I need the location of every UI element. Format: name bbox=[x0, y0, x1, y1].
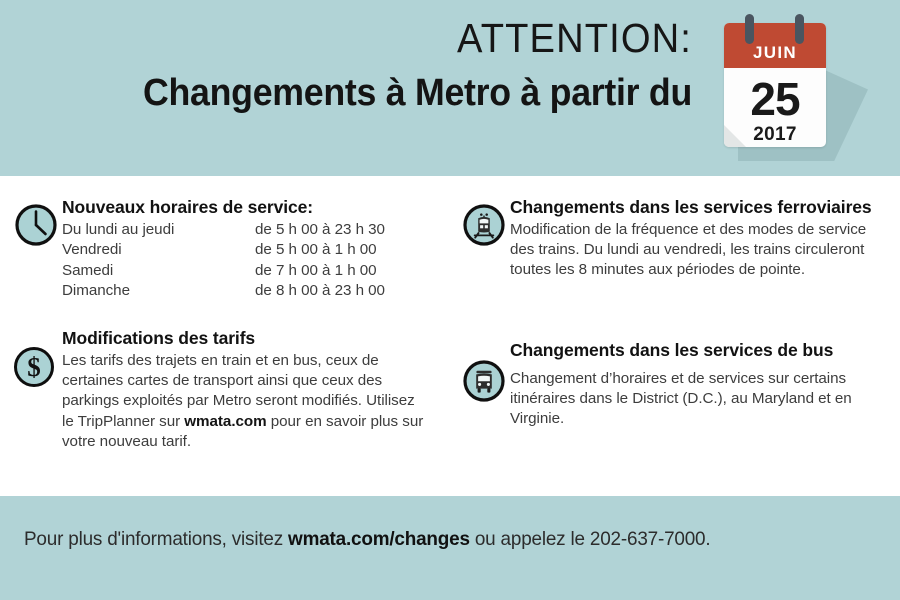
calendar-day: 25 bbox=[724, 76, 826, 122]
footer-message: Pour plus d'informations, visitez wmata.… bbox=[24, 528, 710, 551]
schedule-time: de 5 h 00 à 1 h 00 bbox=[255, 240, 438, 260]
dollar-glyph: $ bbox=[17, 350, 51, 384]
section-rail-changes: Changements dans les services ferroviair… bbox=[462, 198, 886, 281]
right-column: Changements dans les services ferroviair… bbox=[452, 176, 900, 496]
footer-link[interactable]: wmata.com/changes bbox=[288, 528, 470, 550]
section-fare-changes: $ Modifications des tarifs Les tarifs de… bbox=[14, 329, 424, 452]
rail-changes-text: Modification de la fréquence et des mode… bbox=[510, 220, 886, 281]
service-hours-body: Nouveaux horaires de service: Du lundi a… bbox=[62, 198, 438, 302]
section-service-hours: Nouveaux horaires de service: Du lundi a… bbox=[14, 198, 438, 302]
schedule-time: de 7 h 00 à 1 h 00 bbox=[255, 261, 438, 281]
header-banner: ATTENTION: Changements à Metro à partir … bbox=[0, 0, 900, 176]
table-row: Samedi de 7 h 00 à 1 h 00 bbox=[62, 261, 438, 281]
rail-changes-body: Changements dans les services ferroviair… bbox=[510, 198, 886, 281]
schedule-day: Du lundi au jeudi bbox=[62, 220, 255, 240]
bus-changes-text: Changement d’horaires et de services sur… bbox=[510, 369, 886, 430]
schedule-day: Dimanche bbox=[62, 281, 255, 301]
main-content-panel: Nouveaux horaires de service: Du lundi a… bbox=[0, 176, 900, 496]
page-title: Changements à Metro à partir du bbox=[90, 73, 692, 113]
left-column: Nouveaux horaires de service: Du lundi a… bbox=[0, 176, 452, 496]
dollar-icon: $ bbox=[14, 329, 62, 452]
calendar-icon: JUIN 25 2017 bbox=[724, 23, 826, 147]
schedule-day: Samedi bbox=[62, 261, 255, 281]
header-text-group: ATTENTION: Changements à Metro à partir … bbox=[52, 18, 692, 113]
schedule-time: de 5 h 00 à 23 h 30 bbox=[255, 220, 438, 240]
bus-changes-title: Changements dans les services de bus bbox=[510, 341, 886, 361]
calendar-month: JUIN bbox=[753, 43, 797, 63]
fare-changes-text: Les tarifs des trajets en train et en bu… bbox=[62, 351, 424, 452]
rail-changes-title: Changements dans les services ferroviair… bbox=[510, 198, 886, 218]
bus-icon bbox=[462, 341, 510, 430]
calendar-ring-left bbox=[745, 14, 754, 44]
wmata-link[interactable]: wmata.com bbox=[184, 413, 266, 430]
calendar-month-band: JUIN bbox=[724, 23, 826, 68]
schedule-day: Vendredi bbox=[62, 240, 255, 260]
train-icon bbox=[462, 198, 510, 281]
infographic-poster: ATTENTION: Changements à Metro à partir … bbox=[0, 0, 900, 600]
footer-banner: Pour plus d'informations, visitez wmata.… bbox=[0, 496, 900, 600]
service-hours-title: Nouveaux horaires de service: bbox=[62, 198, 438, 218]
table-row: Vendredi de 5 h 00 à 1 h 00 bbox=[62, 240, 438, 260]
schedule-time: de 8 h 00 à 23 h 00 bbox=[255, 281, 438, 301]
attention-label: ATTENTION: bbox=[97, 18, 692, 59]
fare-changes-body: Modifications des tarifs Les tarifs des … bbox=[62, 329, 424, 452]
footer-text-after: ou appelez le 202-637-7000. bbox=[470, 528, 711, 550]
table-row: Du lundi au jeudi de 5 h 00 à 23 h 30 bbox=[62, 220, 438, 240]
service-hours-table: Du lundi au jeudi de 5 h 00 à 23 h 30 Ve… bbox=[62, 220, 438, 302]
dollar-icon-circle: $ bbox=[14, 347, 54, 387]
clock-icon bbox=[14, 198, 62, 302]
section-bus-changes: Changements dans les services de bus Cha… bbox=[462, 341, 886, 430]
footer-text-before: Pour plus d'informations, visitez bbox=[24, 528, 288, 550]
table-row: Dimanche de 8 h 00 à 23 h 00 bbox=[62, 281, 438, 301]
calendar-ring-right bbox=[795, 14, 804, 44]
bus-changes-body: Changements dans les services de bus Cha… bbox=[510, 341, 886, 430]
fare-changes-title: Modifications des tarifs bbox=[62, 329, 424, 349]
calendar-body: JUIN 25 2017 bbox=[724, 23, 826, 147]
